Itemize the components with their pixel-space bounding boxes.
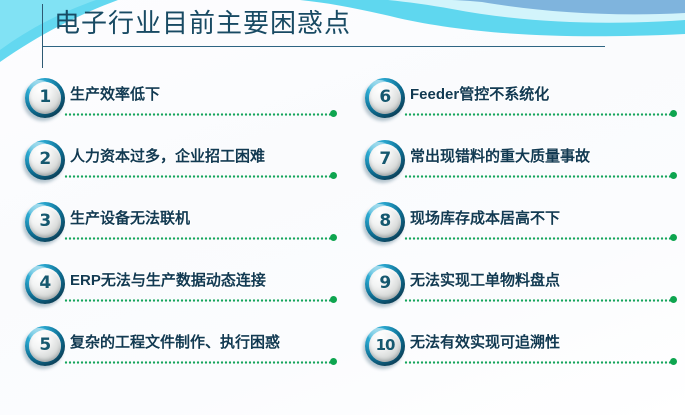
point-number-badge-10: 10 — [365, 326, 405, 366]
dotted-rule — [64, 175, 332, 178]
dotted-rule — [404, 361, 672, 364]
point-number-badge-1: 1 — [25, 78, 65, 118]
badge-number: 4 — [39, 275, 50, 293]
point-label: 复杂的工程文件制作、执行困惑 — [70, 331, 280, 352]
dotted-rule-end-dot — [670, 110, 677, 117]
point-item-6[interactable]: 6 Feeder管控不系统化 — [362, 76, 685, 138]
badge-disc: 3 — [29, 206, 61, 238]
badge-number: 7 — [379, 151, 390, 169]
badge-number: 2 — [39, 151, 50, 169]
point-item-8[interactable]: 8 现场库存成本居高不下 — [362, 200, 685, 262]
point-label: 人力资本过多，企业招工困难 — [70, 145, 265, 166]
badge-number: 10 — [376, 338, 395, 354]
slide-canvas: 电子行业目前主要困惑点 1 生产效率低下 2 人力资本过多，企业招工困难 — [0, 0, 685, 415]
dotted-rule-end-dot — [330, 110, 337, 117]
badge-disc: 4 — [29, 268, 61, 300]
badge-number: 3 — [39, 213, 50, 231]
dotted-rule — [64, 237, 332, 240]
dotted-rule-end-dot — [670, 358, 677, 365]
badge-disc: 6 — [369, 82, 401, 114]
dotted-rule — [404, 237, 672, 240]
point-label: 无法有效实现可追溯性 — [410, 331, 560, 352]
badge-disc: 2 — [29, 144, 61, 176]
badge-number: 1 — [39, 89, 50, 107]
badge-number: 5 — [39, 337, 50, 355]
dotted-rule-end-dot — [330, 358, 337, 365]
point-item-4[interactable]: 4 ERP无法与生产数据动态连接 — [22, 262, 352, 324]
point-label: 常出现错料的重大质量事故 — [410, 145, 590, 166]
point-number-badge-3: 3 — [25, 202, 65, 242]
dotted-rule — [404, 113, 672, 116]
page-title: 电子行业目前主要困惑点 — [54, 5, 351, 43]
dotted-rule-end-dot — [670, 234, 677, 241]
point-item-1[interactable]: 1 生产效率低下 — [22, 76, 352, 138]
badge-number: 8 — [379, 213, 390, 231]
badge-disc: 7 — [369, 144, 401, 176]
title-vertical-rule — [42, 4, 43, 68]
point-number-badge-9: 9 — [365, 264, 405, 304]
point-label: Feeder管控不系统化 — [410, 83, 549, 104]
badge-disc: 1 — [29, 82, 61, 114]
dotted-rule-end-dot — [330, 296, 337, 303]
point-item-7[interactable]: 7 常出现错料的重大质量事故 — [362, 138, 685, 200]
dotted-rule — [404, 175, 672, 178]
badge-disc: 8 — [369, 206, 401, 238]
point-number-badge-2: 2 — [25, 140, 65, 180]
point-label: 现场库存成本居高不下 — [410, 207, 560, 228]
dotted-rule — [404, 299, 672, 302]
point-item-2[interactable]: 2 人力资本过多，企业招工困难 — [22, 138, 352, 200]
point-number-badge-8: 8 — [365, 202, 405, 242]
badge-disc: 9 — [369, 268, 401, 300]
points-column-right: 6 Feeder管控不系统化 7 常出现错料的重大质量事故 8 — [362, 76, 685, 386]
title-block: 电子行业目前主要困惑点 — [0, 0, 685, 72]
point-label: ERP无法与生产数据动态连接 — [70, 269, 266, 290]
dotted-rule-end-dot — [330, 234, 337, 241]
dotted-rule — [64, 361, 332, 364]
point-label: 生产设备无法联机 — [70, 207, 190, 228]
point-number-badge-6: 6 — [365, 78, 405, 118]
point-item-9[interactable]: 9 无法实现工单物料盘点 — [362, 262, 685, 324]
dotted-rule — [64, 299, 332, 302]
point-number-badge-5: 5 — [25, 326, 65, 366]
dotted-rule-end-dot — [670, 172, 677, 179]
dotted-rule-end-dot — [330, 172, 337, 179]
point-item-5[interactable]: 5 复杂的工程文件制作、执行困惑 — [22, 324, 352, 386]
point-number-badge-4: 4 — [25, 264, 65, 304]
point-label: 无法实现工单物料盘点 — [410, 269, 560, 290]
dotted-rule — [64, 113, 332, 116]
point-label: 生产效率低下 — [70, 83, 160, 104]
badge-number: 6 — [379, 89, 390, 107]
badge-disc: 5 — [29, 330, 61, 362]
title-horizontal-rule — [43, 46, 605, 47]
badge-number: 9 — [379, 275, 390, 293]
point-item-3[interactable]: 3 生产设备无法联机 — [22, 200, 352, 262]
badge-disc: 10 — [369, 330, 401, 362]
points-column-left: 1 生产效率低下 2 人力资本过多，企业招工困难 3 — [22, 76, 352, 386]
point-item-10[interactable]: 10 无法有效实现可追溯性 — [362, 324, 685, 386]
dotted-rule-end-dot — [670, 296, 677, 303]
point-number-badge-7: 7 — [365, 140, 405, 180]
